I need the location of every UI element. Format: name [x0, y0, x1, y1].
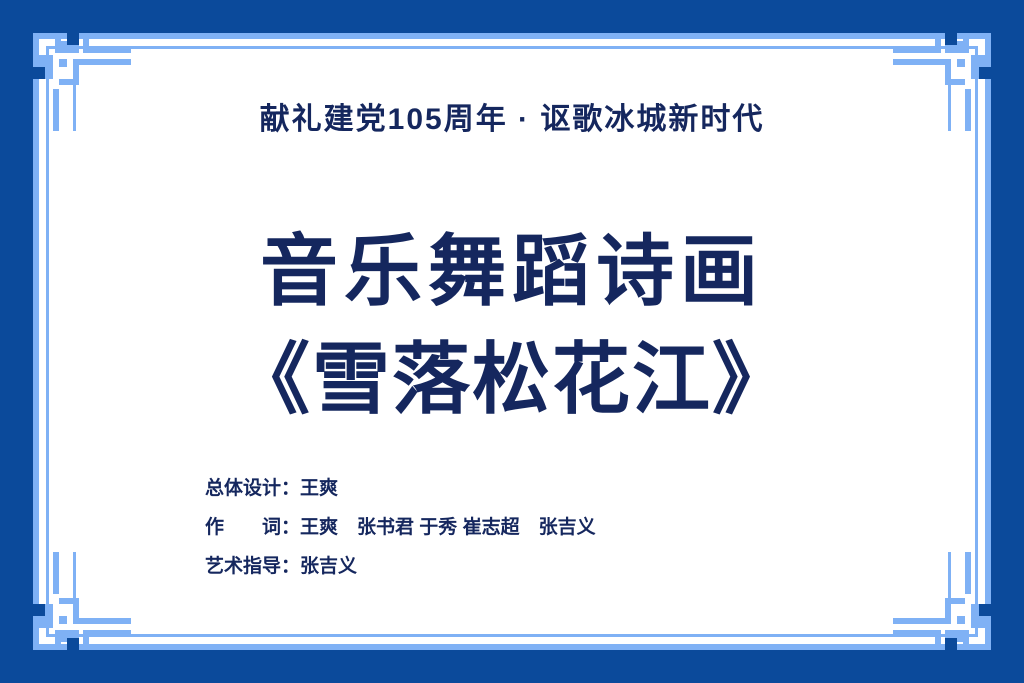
poster-title-line-2: 《雪落松花江》	[60, 326, 964, 434]
credit-value: 王爽 张书君 于秀 崔志超 张吉义	[300, 509, 596, 548]
poster-credits: 总体设计：王爽 作 词：王爽 张书君 于秀 崔志超 张吉义 艺术指导：张吉义	[205, 470, 596, 587]
credit-label: 艺术指导：	[205, 548, 300, 587]
poster-headline: 献礼建党105周年 · 讴歌冰城新时代	[60, 94, 964, 138]
credit-row: 艺术指导：张吉义	[205, 548, 596, 587]
credit-row: 作 词：王爽 张书君 于秀 崔志超 张吉义	[205, 509, 596, 548]
poster-content: 献礼建党105周年 · 讴歌冰城新时代 音乐舞蹈诗画 《雪落松花江》 总体设计：…	[60, 60, 964, 623]
credit-row: 总体设计：王爽	[205, 470, 596, 509]
credit-value: 王爽	[300, 470, 338, 509]
credit-label: 作 词：	[205, 509, 300, 548]
poster-title-block: 音乐舞蹈诗画 《雪落松花江》	[60, 218, 964, 433]
poster: 献礼建党105周年 · 讴歌冰城新时代 音乐舞蹈诗画 《雪落松花江》 总体设计：…	[0, 0, 1024, 683]
credit-label: 总体设计：	[205, 470, 300, 509]
credit-value: 张吉义	[300, 548, 357, 587]
poster-title-line-1: 音乐舞蹈诗画	[60, 218, 964, 326]
